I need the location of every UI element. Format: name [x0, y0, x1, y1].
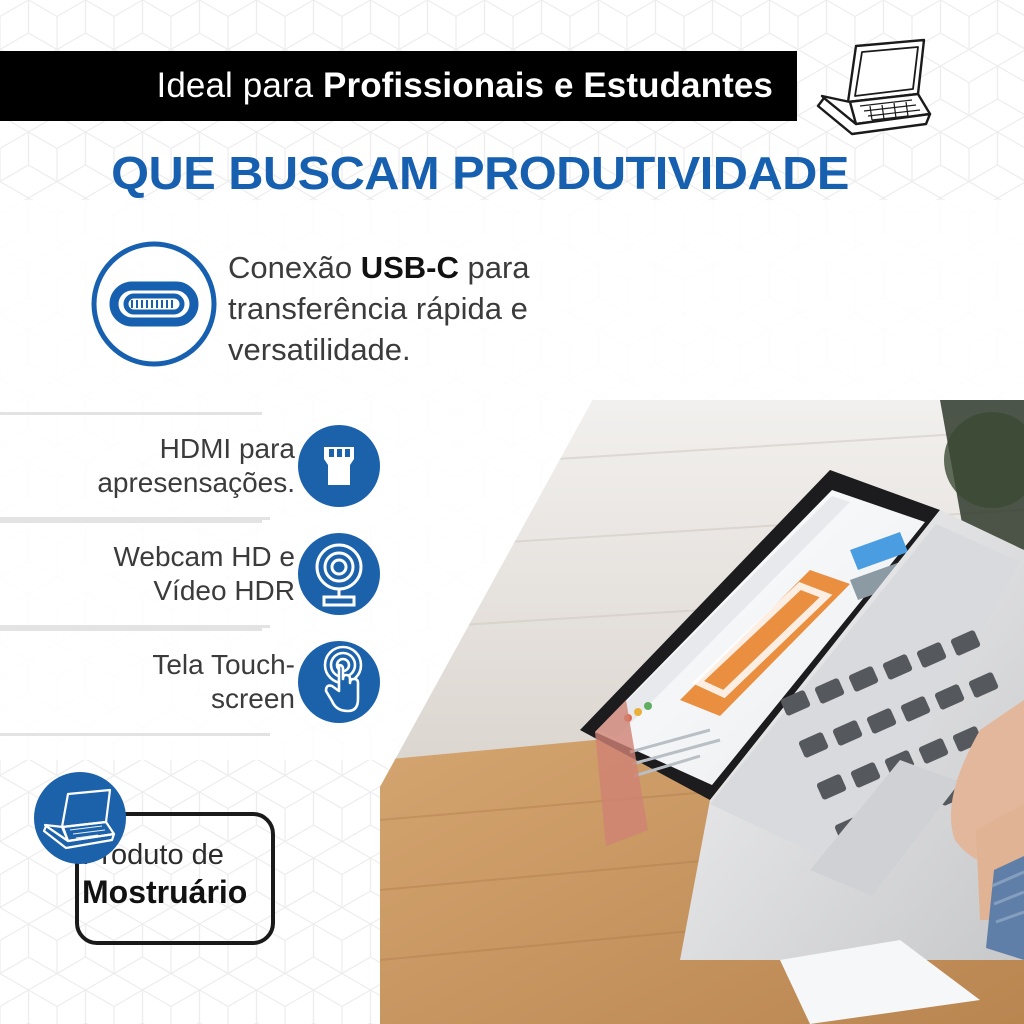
- feature-list: HDMI para apresensações. Webcam HD e Víd…: [0, 412, 390, 736]
- badge-line2: Mostruário: [82, 873, 282, 911]
- promo-graphic: Ideal para Profissionais e Estudantes QU…: [0, 0, 1024, 1024]
- laptop-icon: [32, 770, 128, 866]
- divider-line: [0, 412, 262, 415]
- header-text-plain: Ideal para: [157, 66, 324, 105]
- laptop-photo: [380, 400, 1024, 1024]
- usbc-line3: versatilidade.: [228, 332, 411, 367]
- feature-row-webcam: Webcam HD e Vídeo HDR: [0, 520, 390, 628]
- usbc-feature: Conexão USB-C para transferência rápida …: [88, 238, 530, 371]
- webcam-icon: [296, 531, 382, 617]
- laptop-line-art-icon: [812, 36, 938, 136]
- divider-line: [0, 733, 270, 736]
- page-headline: QUE BUSCAM PRODUTIVIDADE: [0, 146, 989, 200]
- feature-label-webcam: Webcam HD e Vídeo HDR: [113, 540, 295, 608]
- usbc-line1-a: Conexão: [228, 250, 361, 285]
- touchscreen-hand-icon: [296, 639, 382, 725]
- usbc-line2: transferência rápida e: [228, 291, 528, 326]
- usbc-feature-text: Conexão USB-C para transferência rápida …: [228, 248, 530, 371]
- feature-label-hdmi: HDMI para apresensações.: [97, 432, 295, 500]
- usbc-line1-bold: USB-C: [361, 250, 459, 285]
- divider-line: [0, 520, 262, 523]
- header-text-bold: Profissionais e Estudantes: [323, 66, 773, 105]
- usb-c-port-icon: [88, 238, 220, 370]
- hdmi-connector-icon: [296, 423, 382, 509]
- feature-label-touchscreen: Tela Touch- screen: [152, 648, 295, 716]
- header-banner: Ideal para Profissionais e Estudantes: [0, 51, 797, 121]
- feature-row-touchscreen: Tela Touch- screen: [0, 628, 390, 736]
- feature-row-hdmi: HDMI para apresensações.: [0, 412, 390, 520]
- divider-line: [0, 628, 262, 631]
- header-banner-text: Ideal para Profissionais e Estudantes: [157, 66, 773, 106]
- usbc-line1-b: para: [459, 250, 530, 285]
